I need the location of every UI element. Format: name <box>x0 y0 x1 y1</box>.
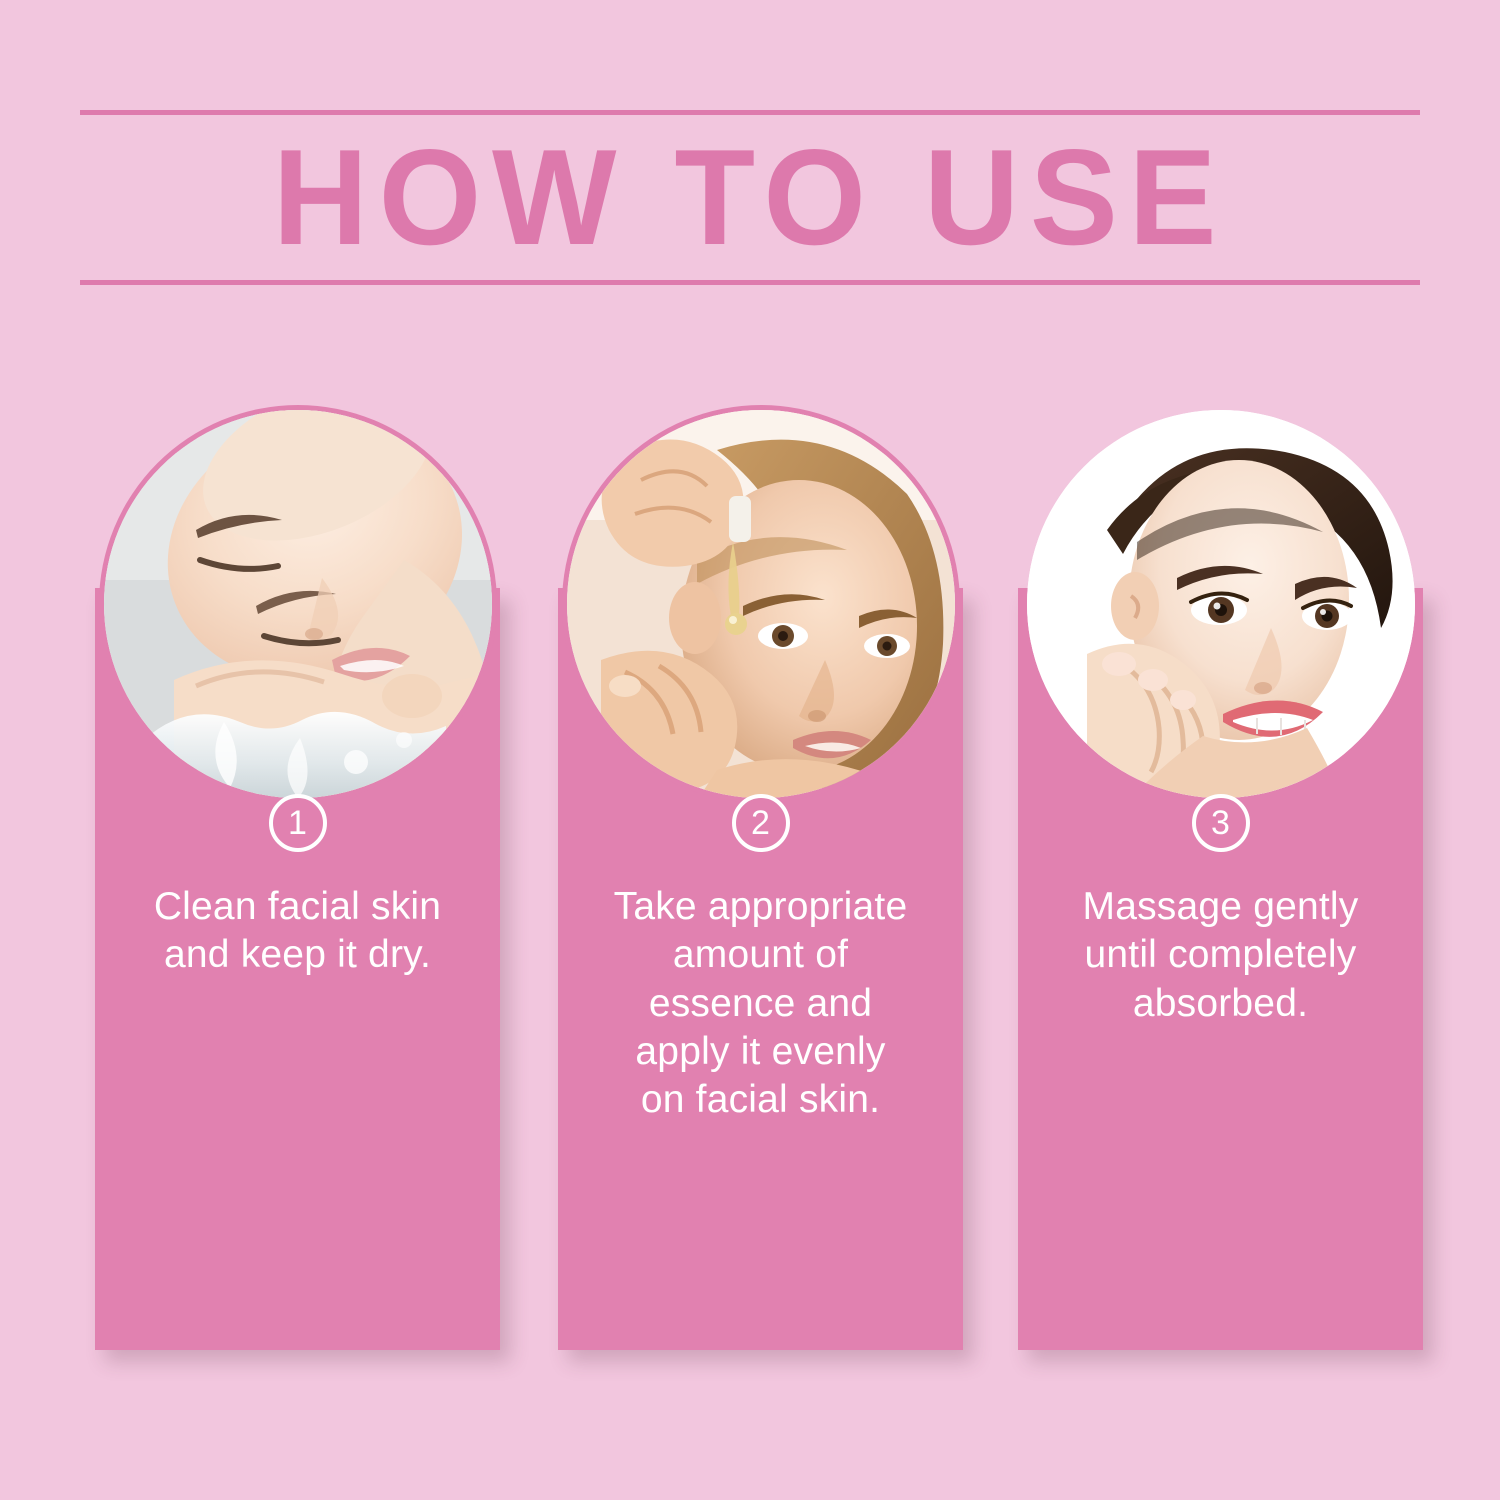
step-photo-3 <box>1027 410 1415 798</box>
cleansing-face-photo-icon <box>104 410 492 798</box>
step-number-badge-2: 2 <box>732 794 790 852</box>
step-card-3: 3 Massage gently until completely absorb… <box>1018 588 1423 1350</box>
steps-row: 1 Clean facial skin and keep it dry. <box>0 0 1500 1500</box>
step-card-2: 2 Take appropriate amount of essence and… <box>558 588 963 1350</box>
step-caption-3: Massage gently until completely absorbed… <box>1026 883 1415 1028</box>
step-photo-1 <box>104 410 492 798</box>
step-number-badge-3: 3 <box>1192 794 1250 852</box>
serum-dropper-photo-icon <box>567 410 955 798</box>
massaging-face-photo-icon <box>1027 410 1415 798</box>
step-caption-2: Take appropriate amount of essence and a… <box>566 883 955 1125</box>
step-number-badge-1: 1 <box>269 794 327 852</box>
step-photo-2 <box>567 410 955 798</box>
step-caption-1: Clean facial skin and keep it dry. <box>103 883 492 980</box>
step-card-1: 1 Clean facial skin and keep it dry. <box>95 588 500 1350</box>
